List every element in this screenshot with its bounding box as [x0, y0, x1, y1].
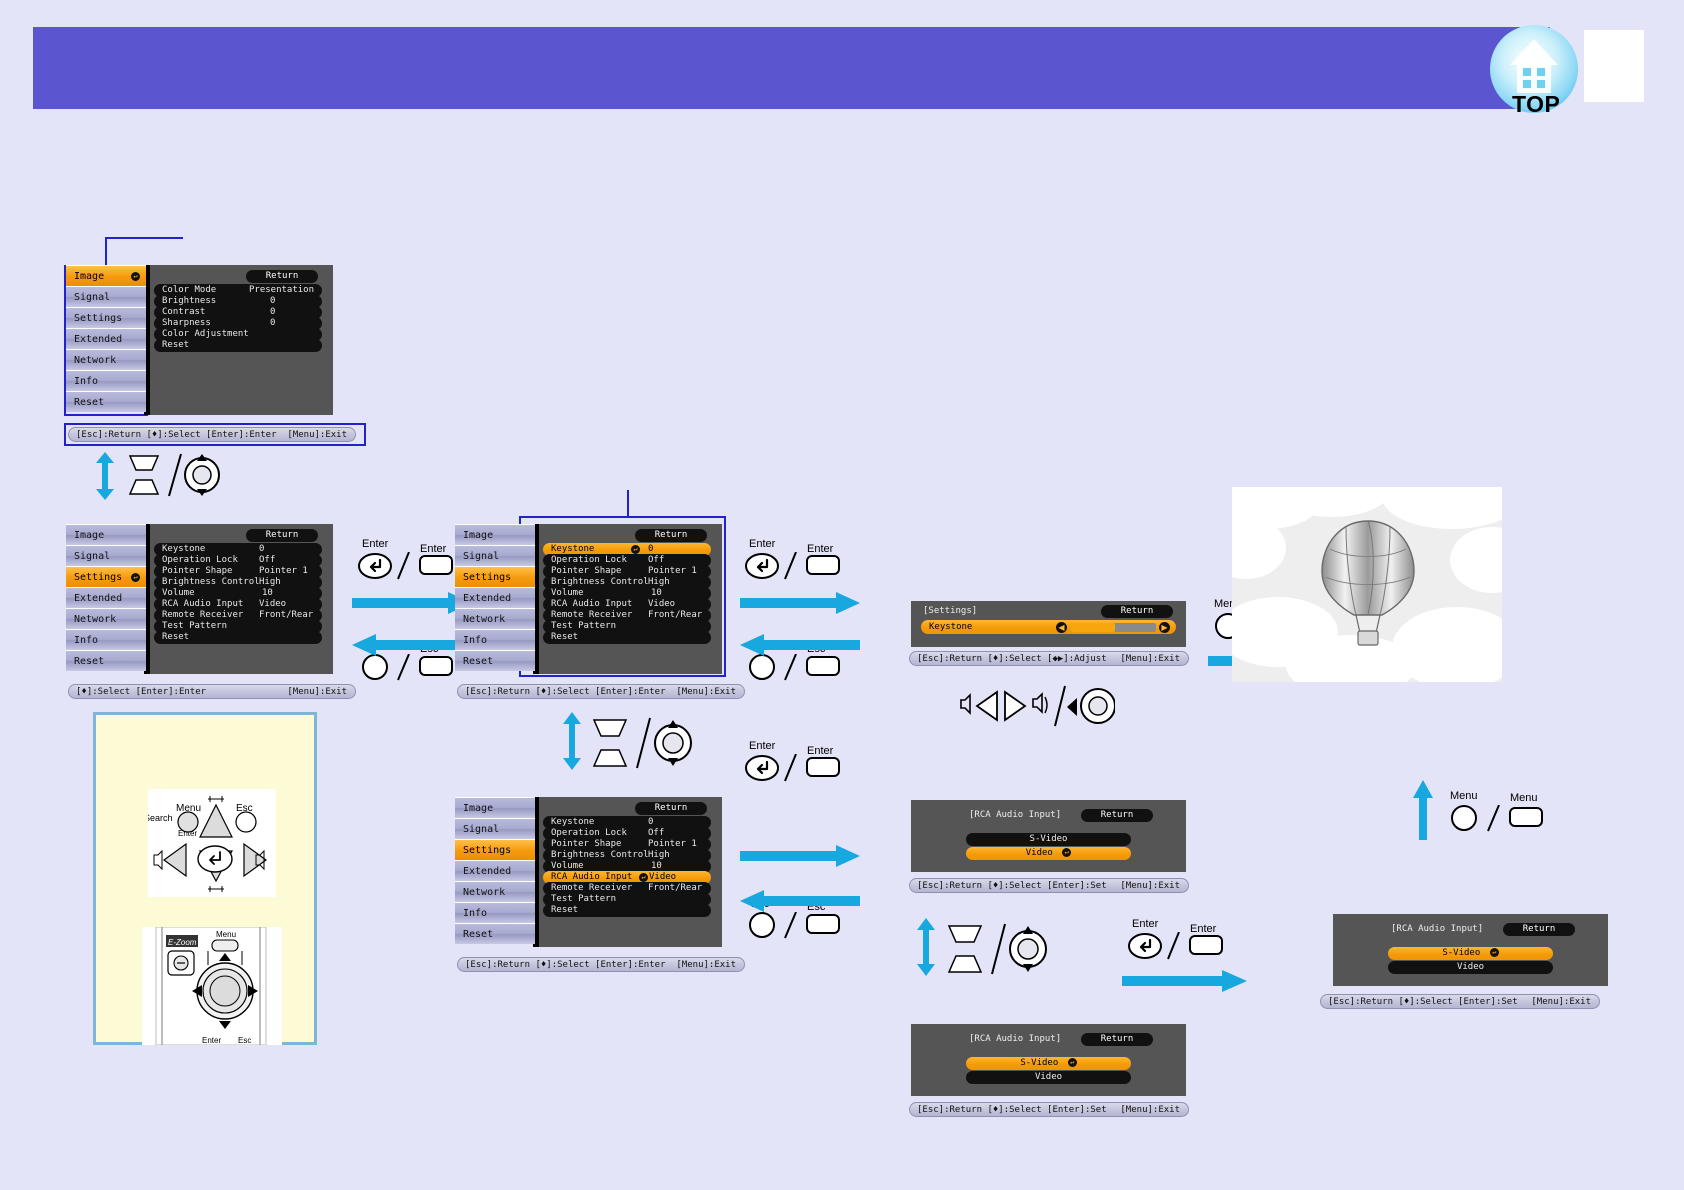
sidebar-item-info[interactable]: Info	[66, 370, 146, 391]
callout-line-horizontal	[105, 237, 183, 239]
sidebar-item-network[interactable]: Network	[66, 608, 146, 629]
svg-text:Esc: Esc	[238, 1036, 251, 1045]
sidebar-item-label: Info	[74, 376, 98, 387]
sidebar-item-label: Extended	[74, 593, 122, 604]
rca-panel-3[interactable]: [RCA Audio Input] Return S-Video ↵ Video	[1333, 914, 1608, 986]
volume-key-group[interactable]	[955, 680, 1115, 735]
sidebar-item-label: Image	[463, 530, 493, 541]
enter-key-group-3[interactable]: Enter Enter	[745, 740, 855, 782]
vertical-updown-arrow-2	[562, 712, 582, 770]
house-window	[1523, 80, 1531, 88]
enter-label: Enter	[1132, 918, 1158, 930]
sidebar-item-label: Network	[463, 614, 505, 625]
row-label: Reset	[162, 339, 189, 352]
vertical-updown-arrow-1	[95, 452, 115, 500]
rca-option-label: S-Video	[1020, 1058, 1058, 1068]
keystone-item-label: Keystone	[929, 620, 972, 634]
sidebar-item-label: Settings	[74, 313, 122, 324]
image-menu[interactable]: Image ↵ Signal Settings Extended Network…	[66, 265, 333, 415]
rca-option-label: S-Video	[1442, 948, 1480, 958]
sidebar-item-label: Settings	[74, 572, 122, 583]
keystone-adjust-panel[interactable]: [Settings] Return Keystone ◀ ▶	[911, 601, 1186, 647]
settings-menu-c-statusbar: [Esc]:Return [♦]:Select [Enter]:Enter [M…	[457, 957, 745, 972]
enter-icon: ↵	[1068, 1058, 1077, 1067]
rca-option-label: S-Video	[1030, 834, 1068, 844]
return-button[interactable]: Return	[1101, 605, 1173, 618]
sidebar-item-settings[interactable]: Settings	[66, 307, 146, 328]
sidebar-item-extended[interactable]: Extended	[455, 587, 535, 608]
arrow-left-2	[740, 634, 860, 656]
sidebar-item-label: Reset	[74, 397, 104, 408]
svg-text:E-Zoom: E-Zoom	[168, 938, 197, 947]
enter-label: Enter	[362, 538, 388, 550]
house-window	[1523, 68, 1531, 76]
statusbar-right: [Menu]:Exit	[1120, 879, 1180, 894]
svg-text:Menu: Menu	[216, 930, 236, 939]
table-row[interactable]: Reset	[543, 631, 711, 644]
projector-control-panel-illustration: Menu Esc Search Enter	[148, 789, 276, 897]
rca-option-label: Video	[1035, 1072, 1062, 1082]
menu-label: Menu	[1450, 790, 1478, 802]
remote-illustration-box: Menu Esc Search Enter E-Zoom	[93, 712, 317, 1045]
sidebar-item-reset[interactable]: Reset	[455, 650, 535, 671]
svg-text:Enter: Enter	[202, 1036, 221, 1045]
return-button[interactable]: Return	[1081, 1033, 1153, 1046]
sidebar-item-label: Extended	[463, 866, 511, 877]
settings-menu-b-statusbar: [Esc]:Return [♦]:Select [Enter]:Enter [M…	[457, 684, 745, 699]
sidebar-item-info[interactable]: Info	[455, 629, 535, 650]
sidebar-item-image[interactable]: Image ↵	[66, 265, 146, 286]
sidebar-item-label: Info	[463, 635, 487, 646]
settings-menu-a-statusbar: [♦]:Select [Enter]:Enter [Menu]:Exit	[68, 684, 356, 699]
statusbar-right: [Menu]:Exit	[1120, 1103, 1180, 1118]
enter-label: Enter	[749, 538, 775, 550]
statusbar-left: [Esc]:Return [♦]:Select [◆▶]:Adjust	[917, 652, 1107, 667]
rca-panel-1[interactable]: [RCA Audio Input] Return S-Video Video ↵	[911, 800, 1186, 872]
sidebar-item-label: Network	[74, 614, 116, 625]
return-button[interactable]: Return	[246, 529, 318, 542]
enter-icon: ↵	[131, 272, 140, 281]
sidebar-item-image[interactable]: Image	[455, 524, 535, 545]
menu-key-group-2[interactable]: Menu Menu	[1448, 790, 1558, 832]
sidebar-item-label: Image	[74, 271, 104, 282]
sidebar-item-label: Extended	[74, 334, 122, 345]
statusbar-right: [Menu]:Exit	[1531, 995, 1591, 1010]
keystone-slider-row[interactable]: Keystone ◀ ▶	[921, 620, 1176, 634]
sidebar-item-image[interactable]: Image	[455, 797, 535, 818]
statusbar-right: [Menu]:Exit	[676, 685, 736, 700]
sidebar-item-label: Extended	[463, 593, 511, 604]
statusbar-left: [Esc]:Return [♦]:Select [Enter]:Enter	[76, 428, 276, 443]
callout-line-vertical-2	[627, 490, 629, 517]
arrow-left-3	[740, 890, 860, 912]
settings-menu-b[interactable]: Image Signal Settings Extended Network I…	[455, 524, 722, 674]
slider-left-arrow-icon[interactable]: ◀	[1056, 622, 1067, 633]
sidebar-item-signal[interactable]: Signal	[455, 545, 535, 566]
arrow-up-menu-2	[1412, 780, 1434, 840]
sidebar-item-extended[interactable]: Extended	[66, 328, 146, 349]
sidebar-item-signal[interactable]: Signal	[66, 545, 146, 566]
sidebar-item-label: Signal	[463, 824, 499, 835]
arrow-right-1	[352, 592, 472, 614]
house-window	[1537, 68, 1545, 76]
sidebar-item-settings[interactable]: Settings ↵	[66, 566, 146, 587]
enter-icon: ↵	[1062, 848, 1071, 857]
header-bar	[33, 27, 1550, 109]
return-button[interactable]: Return	[246, 270, 318, 283]
row-label: Reset	[551, 631, 578, 644]
sidebar-item-label: Reset	[463, 929, 493, 940]
top-label: TOP	[1512, 91, 1560, 118]
row-label: Reset	[551, 904, 578, 917]
statusbar-left: [Esc]:Return [♦]:Select [Enter]:Enter	[465, 958, 665, 973]
menu-label: Menu	[1510, 792, 1538, 804]
sidebar-item-label: Network	[74, 355, 116, 366]
arrow-left-1	[352, 634, 472, 656]
sidebar-item-label: Reset	[463, 656, 493, 667]
house-icon	[1510, 39, 1558, 95]
sidebar-item-label: Info	[74, 635, 98, 646]
sidebar-item-settings[interactable]: Settings	[455, 566, 535, 587]
enter-icon: ↵	[631, 545, 640, 554]
sidebar-item-image[interactable]: Image	[66, 524, 146, 545]
vertical-updown-arrow-3	[916, 918, 936, 976]
keystone-key-group-3[interactable]	[940, 918, 1050, 978]
sidebar-item-info[interactable]: Info	[455, 902, 535, 923]
return-button[interactable]: Return	[635, 802, 707, 815]
rca-option-label: Video	[1026, 848, 1053, 858]
keystone-key-group-2[interactable]	[585, 712, 695, 772]
house-body	[1517, 63, 1551, 93]
sidebar-item-label: Signal	[74, 551, 110, 562]
image-menu-statusbar: [Esc]:Return [♦]:Select [Enter]:Enter [M…	[68, 427, 356, 442]
return-button[interactable]: Return	[1081, 809, 1153, 822]
sidebar-item-label: Image	[463, 803, 493, 814]
sidebar-item-label: Settings	[463, 845, 511, 856]
rca-panel-title: [RCA Audio Input]	[1391, 924, 1483, 934]
enter-key-group-4[interactable]: Enter Enter	[1128, 918, 1238, 960]
sidebar-item-info[interactable]: Info	[66, 629, 146, 650]
top-home-icon[interactable]: TOP	[1490, 25, 1580, 117]
sidebar-item-label: Signal	[463, 551, 499, 562]
table-row[interactable]: Reset	[543, 904, 711, 917]
sidebar-item-network[interactable]: Network	[455, 881, 535, 902]
row-label: Reset	[162, 631, 189, 644]
callout-line-vertical	[105, 237, 107, 265]
enter-icon: ↵	[1490, 948, 1499, 957]
rca-option-label: Video	[1457, 962, 1484, 972]
sidebar-item-label: Settings	[463, 572, 511, 583]
rca-panel-3-statusbar: [Esc]:Return [♦]:Select [Enter]:Set [Men…	[1320, 994, 1600, 1009]
enter-icon: ↵	[131, 573, 140, 582]
enter-label: Enter	[749, 740, 775, 752]
projected-image-balloon	[1232, 487, 1502, 682]
rca-option-video[interactable]: Video	[966, 1071, 1131, 1084]
enter-key-group-1[interactable]: Enter Enter	[358, 538, 468, 580]
rca-option-video-selected[interactable]: Video ↵	[966, 847, 1131, 860]
svg-text:Search: Search	[148, 813, 173, 823]
arrow-right-3	[740, 845, 860, 867]
sidebar-item-label: Image	[74, 530, 104, 541]
sidebar-item-signal[interactable]: Signal	[66, 286, 146, 307]
rca-panel-2[interactable]: [RCA Audio Input] Return S-Video ↵ Video	[911, 1024, 1186, 1096]
sidebar-item-label: Info	[463, 908, 487, 919]
sidebar-item-network[interactable]: Network	[66, 349, 146, 370]
house-window	[1537, 80, 1545, 88]
sidebar-item-extended[interactable]: Extended	[66, 587, 146, 608]
settings-menu-a[interactable]: Image Signal Settings ↵ Extended Network…	[66, 524, 333, 674]
house-roof	[1510, 39, 1558, 65]
hot-air-balloon	[1320, 519, 1416, 649]
remote-controller-illustration: E-Zoom Menu Enter Esc	[142, 927, 282, 1045]
statusbar-right: [Menu]:Exit	[1120, 652, 1180, 667]
keystone-panel-title: [Settings]	[923, 606, 977, 616]
slider-fill	[1071, 623, 1115, 632]
sidebar-item-reset[interactable]: Reset	[66, 650, 146, 671]
statusbar-right: [Menu]:Exit	[287, 685, 347, 700]
sidebar-item-label: Signal	[74, 292, 110, 303]
sidebar-item-label: Network	[463, 887, 505, 898]
sidebar-item-signal[interactable]: Signal	[455, 818, 535, 839]
enter-key-group-2[interactable]: Enter Enter	[745, 538, 855, 580]
rca-panel-title: [RCA Audio Input]	[969, 1034, 1061, 1044]
keystone-key-group-1[interactable]	[122, 450, 222, 500]
statusbar-right: [Menu]:Exit	[287, 428, 347, 443]
statusbar-left: [Esc]:Return [♦]:Select [Enter]:Set	[917, 879, 1107, 894]
settings-menu-c[interactable]: Image Signal Settings Extended Network I…	[455, 797, 722, 947]
rca-panel-2-statusbar: [Esc]:Return [♦]:Select [Enter]:Set [Men…	[909, 1102, 1189, 1117]
rca-option-svideo-selected[interactable]: S-Video ↵	[966, 1057, 1131, 1070]
top-white-box	[1584, 30, 1644, 102]
rca-panel-title: [RCA Audio Input]	[969, 810, 1061, 820]
rca-panel-1-statusbar: [Esc]:Return [♦]:Select [Enter]:Set [Men…	[909, 878, 1189, 893]
statusbar-left: [Esc]:Return [♦]:Select [Enter]:Enter	[465, 685, 665, 700]
table-row[interactable]: Reset	[154, 631, 322, 644]
slider-right-arrow-icon[interactable]: ▶	[1159, 622, 1170, 633]
statusbar-left: [Esc]:Return [♦]:Select [Enter]:Set	[917, 1103, 1107, 1118]
arrow-right-2	[740, 592, 860, 614]
table-row[interactable]: Reset	[154, 339, 322, 352]
rca-option-svideo-selected[interactable]: S-Video ↵	[1388, 947, 1553, 960]
sidebar-item-label: Reset	[74, 656, 104, 667]
sidebar-item-reset[interactable]: Reset	[66, 391, 146, 412]
sidebar-item-network[interactable]: Network	[455, 608, 535, 629]
cloud-shape	[1450, 527, 1502, 593]
rca-option-svideo[interactable]: S-Video	[966, 833, 1131, 846]
arrow-right-4	[1122, 970, 1247, 992]
return-button[interactable]: Return	[635, 529, 707, 542]
statusbar-left: [Esc]:Return [♦]:Select [Enter]:Set	[1328, 995, 1518, 1010]
enter-icon: ↵	[639, 873, 648, 882]
statusbar-right: [Menu]:Exit	[676, 958, 736, 973]
sidebar-item-settings[interactable]: Settings	[455, 839, 535, 860]
return-button[interactable]: Return	[1503, 923, 1575, 936]
sidebar-item-reset[interactable]: Reset	[455, 923, 535, 944]
keystone-adjust-statusbar: [Esc]:Return [♦]:Select [◆▶]:Adjust [Men…	[909, 651, 1189, 666]
rca-option-video[interactable]: Video	[1388, 961, 1553, 974]
statusbar-left: [♦]:Select [Enter]:Enter	[76, 685, 206, 700]
sidebar-item-extended[interactable]: Extended	[455, 860, 535, 881]
